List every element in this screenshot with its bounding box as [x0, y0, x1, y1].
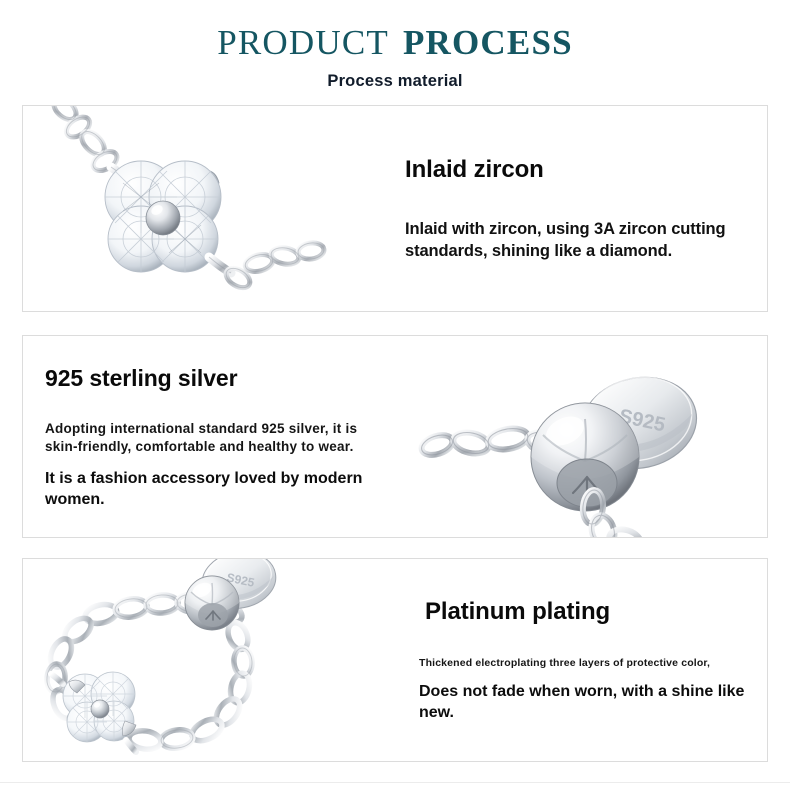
feature-copy-sterling-silver: 925 sterling silver Adopting internation… — [23, 336, 407, 537]
page-header: PRODUCTPROCESS Process material — [0, 0, 790, 91]
feature-body-inlaid-zircon: Inlaid with zircon, using 3A zircon cutt… — [405, 218, 747, 262]
page-subtitle: Process material — [0, 72, 790, 91]
feature-body-large-sterling-silver: It is a fashion accessory loved by moder… — [45, 468, 393, 510]
page-title-word-product: PRODUCT — [217, 23, 389, 62]
product-image-platinum-plating: S925 — [23, 559, 395, 761]
feature-body-tiny-platinum-plating: Thickened electroplating three layers of… — [419, 656, 747, 670]
feature-card-list: Inlaid zircon Inlaid with zircon, using … — [22, 105, 768, 762]
feature-card-inlaid-zircon: Inlaid zircon Inlaid with zircon, using … — [22, 105, 768, 312]
clover-zircon-closeup-illustration — [23, 106, 385, 311]
feature-copy-inlaid-zircon: Inlaid zircon Inlaid with zircon, using … — [385, 106, 767, 311]
page-title: PRODUCTPROCESS — [0, 23, 790, 63]
feature-heading-inlaid-zircon: Inlaid zircon — [405, 156, 747, 184]
feature-heading-sterling-silver: 925 sterling silver — [45, 364, 393, 392]
feature-copy-platinum-plating: Platinum plating Thickened electroplatin… — [395, 559, 767, 761]
feature-card-sterling-silver: 925 sterling silver Adopting internation… — [22, 335, 768, 538]
chain-ring-full-illustration: S925 — [23, 559, 395, 761]
feature-body-large-platinum-plating: Does not fade when worn, with a shine li… — [419, 681, 747, 723]
feature-card-platinum-plating: S925 — [22, 558, 768, 762]
product-image-sterling-silver: S925 — [407, 336, 767, 537]
page-bottom-divider — [0, 782, 790, 783]
page-title-word-process: PROCESS — [403, 23, 573, 62]
feature-body-small-sterling-silver: Adopting international standard 925 silv… — [45, 420, 393, 456]
feature-heading-platinum-plating: Platinum plating — [425, 598, 747, 626]
product-image-inlaid-zircon — [23, 106, 385, 311]
silver-bead-tag-illustration: S925 — [407, 336, 767, 537]
